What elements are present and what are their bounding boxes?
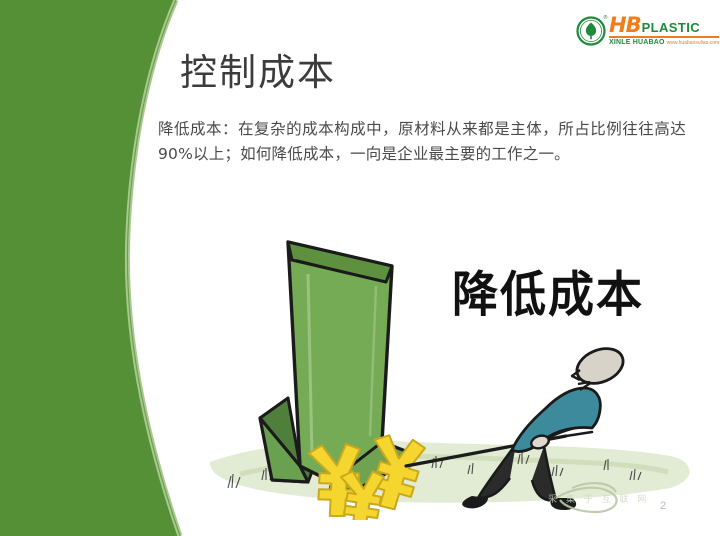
logo-website-url: www.huabaosuliao.com xyxy=(667,41,720,46)
sidebar-green-shape xyxy=(0,0,180,536)
page-title: 控制成本 xyxy=(180,42,336,96)
illustration-brush-text: 降低成本 xyxy=(452,256,644,325)
logo-product-text: PLASTIC xyxy=(642,20,700,35)
company-logo: ® HB PLASTIC XINLE HUABAO www.huabaosuli… xyxy=(576,10,710,52)
logo-brand-text: HB xyxy=(609,16,641,35)
slide-canvas: ® HB PLASTIC XINLE HUABAO www.huabaosuli… xyxy=(0,0,720,536)
logo-company-row: XINLE HUABAO www.huabaosuliao.com xyxy=(609,39,719,46)
green-tree-circle-icon: ® xyxy=(576,16,606,46)
logo-company-name: XINLE HUABAO xyxy=(609,39,665,46)
sidebar-edge-highlight xyxy=(127,0,180,536)
body-paragraph: 降低成本：在复杂的成本构成中，原材料从来都是主体，所占比例往往高达90%以上；如… xyxy=(158,117,686,167)
registered-mark-icon: ® xyxy=(603,15,608,21)
page-number: 2 xyxy=(660,500,666,512)
logo-text-block: HB PLASTIC XINLE HUABAO www.huabaosuliao… xyxy=(609,16,719,46)
watermark-text: 采 集 于 互 联 网 xyxy=(548,492,658,514)
logo-divider xyxy=(609,36,719,38)
logo-brand-row: HB PLASTIC xyxy=(609,16,719,35)
sidebar-edge-line xyxy=(127,0,180,536)
